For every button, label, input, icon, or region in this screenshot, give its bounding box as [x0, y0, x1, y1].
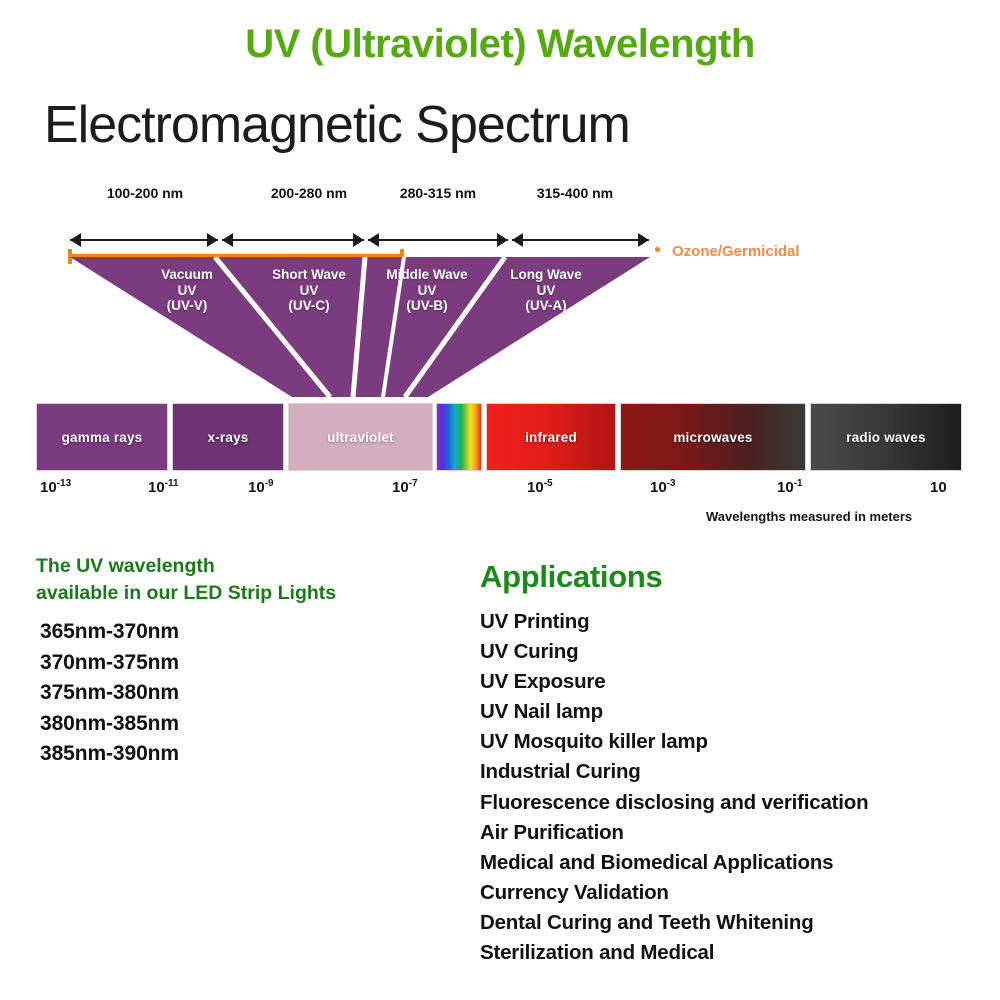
- arrow-head-left-icon: [368, 233, 379, 247]
- em-segment-x-rays: x-rays: [172, 403, 284, 471]
- range-arrow-2: [368, 233, 508, 247]
- arrow-line: [70, 239, 218, 241]
- uv-cat-code: (UV-C): [246, 298, 372, 314]
- em-segment-infrared: infrared: [486, 403, 616, 471]
- scale-exp: -9: [265, 478, 274, 489]
- scale-base: 10: [248, 479, 265, 496]
- left-heading-line2: available in our LED Strip Lights: [36, 580, 456, 607]
- scale-label-1: 10-11: [148, 478, 179, 496]
- scale-exp: -11: [165, 478, 179, 489]
- scale-exp: -1: [794, 478, 803, 489]
- range-arrow-3: [512, 233, 649, 247]
- arrow-line: [512, 239, 649, 241]
- list-item: Medical and Biomedical Applications: [480, 848, 985, 878]
- uv-wavelength-block: The UV wavelength available in our LED S…: [36, 553, 456, 770]
- list-item: 375nm-380nm: [40, 678, 456, 709]
- spectrum-heading: Electromagnetic Spectrum: [44, 95, 630, 155]
- list-item: Air Purification: [480, 818, 985, 848]
- scale-base: 10: [650, 479, 667, 496]
- scale-base: 10: [930, 479, 947, 496]
- uv-cat-uv: UV: [362, 283, 492, 299]
- uv-cat-name: Short Wave: [246, 267, 372, 283]
- scale-base: 10: [40, 479, 57, 496]
- ozone-dot-icon: [655, 247, 660, 252]
- scale-exp: -7: [409, 478, 418, 489]
- em-segment-label: x-rays: [208, 430, 249, 445]
- uv-cat-name: Long Wave: [484, 267, 608, 283]
- list-item: 365nm-370nm: [40, 617, 456, 648]
- wavelength-list: 365nm-370nm 370nm-375nm 375nm-380nm 380n…: [36, 617, 456, 770]
- left-heading-line1: The UV wavelength: [36, 553, 456, 580]
- applications-list: UV Printing UV Curing UV Exposure UV Nai…: [480, 607, 985, 968]
- list-item: Dental Curing and Teeth Whitening: [480, 908, 985, 938]
- uv-cat-code: (UV-B): [362, 298, 492, 314]
- list-item: Industrial Curing: [480, 757, 985, 787]
- scale-label-6: 10-1: [777, 478, 803, 496]
- uv-cat-uv: UV: [484, 283, 608, 299]
- list-item: UV Exposure: [480, 667, 985, 697]
- list-item: UV Printing: [480, 607, 985, 637]
- page-title: UV (Ultraviolet) Wavelength: [0, 22, 1000, 67]
- scale-label-7: 10: [930, 478, 947, 496]
- uv-cat-name: Middle Wave: [362, 267, 492, 283]
- list-item: Currency Validation: [480, 878, 985, 908]
- range-label-0: 100-200 nm: [70, 185, 220, 201]
- em-segment-ultraviolet: ultraviolet: [288, 403, 433, 471]
- arrow-head-left-icon: [512, 233, 523, 247]
- list-item: Fluorescence disclosing and verification: [480, 788, 985, 818]
- range-arrow-0: [70, 233, 218, 247]
- list-item: UV Curing: [480, 637, 985, 667]
- em-segment-radio-waves: radio waves: [810, 403, 962, 471]
- list-item: UV Mosquito killer lamp: [480, 727, 985, 757]
- uv-cat-name: Vacuum: [128, 267, 246, 283]
- range-label-3: 315-400 nm: [500, 185, 650, 201]
- em-segment-microwaves: microwaves: [620, 403, 806, 471]
- left-heading: The UV wavelength available in our LED S…: [36, 553, 456, 607]
- em-segment-label: infrared: [525, 430, 577, 445]
- applications-heading: Applications: [480, 558, 985, 596]
- range-label-2: 280-315 nm: [372, 185, 504, 201]
- uv-category-long-wave: Long Wave UV (UV-A): [484, 267, 608, 314]
- arrow-line: [368, 239, 508, 241]
- scale-label-3: 10-7: [392, 478, 418, 496]
- arrow-head-left-icon: [70, 233, 81, 247]
- uv-cat-uv: UV: [246, 283, 372, 299]
- scale-exp: -13: [57, 478, 71, 489]
- list-item: 385nm-390nm: [40, 739, 456, 770]
- em-segment-label: radio waves: [846, 430, 926, 445]
- scale-base: 10: [527, 479, 544, 496]
- scale-label-5: 10-3: [650, 478, 676, 496]
- arrow-head-left-icon: [222, 233, 233, 247]
- em-segment-label: gamma rays: [62, 430, 143, 445]
- uv-category-middle-wave: Middle Wave UV (UV-B): [362, 267, 492, 314]
- scale-exp: -3: [667, 478, 676, 489]
- em-segment-visible: [436, 403, 482, 471]
- range-arrow-1: [222, 233, 364, 247]
- uv-cat-code: (UV-V): [128, 298, 246, 314]
- scale-base: 10: [148, 479, 165, 496]
- uv-cat-uv: UV: [128, 283, 246, 299]
- arrow-head-right-icon: [638, 233, 649, 247]
- scale-exp: -5: [544, 478, 553, 489]
- uv-cat-code: (UV-A): [484, 298, 608, 314]
- applications-block: Applications UV Printing UV Curing UV Ex…: [480, 558, 985, 968]
- em-spectrum-bar: gamma rays x-rays ultraviolet infrared m…: [0, 403, 1000, 471]
- infographic-page: UV (Ultraviolet) Wavelength Electromagne…: [0, 0, 1000, 1000]
- list-item: 380nm-385nm: [40, 709, 456, 740]
- uv-category-vacuum: Vacuum UV (UV-V): [128, 267, 246, 314]
- list-item: Sterilization and Medical: [480, 938, 985, 968]
- scale-label-0: 10-13: [40, 478, 71, 496]
- scale-label-4: 10-5: [527, 478, 553, 496]
- scale-caption: Wavelengths measured in meters: [706, 509, 912, 524]
- arrow-head-right-icon: [207, 233, 218, 247]
- em-segment-label: ultraviolet: [327, 430, 394, 445]
- list-item: UV Nail lamp: [480, 697, 985, 727]
- list-item: 370nm-375nm: [40, 648, 456, 679]
- em-segment-label: microwaves: [673, 430, 752, 445]
- scale-base: 10: [392, 479, 409, 496]
- em-segment-gamma-rays: gamma rays: [36, 403, 168, 471]
- arrow-head-right-icon: [353, 233, 364, 247]
- scale-label-2: 10-9: [248, 478, 274, 496]
- scale-base: 10: [777, 479, 794, 496]
- uv-category-short-wave: Short Wave UV (UV-C): [246, 267, 372, 314]
- arrow-line: [222, 239, 364, 241]
- arrow-head-right-icon: [497, 233, 508, 247]
